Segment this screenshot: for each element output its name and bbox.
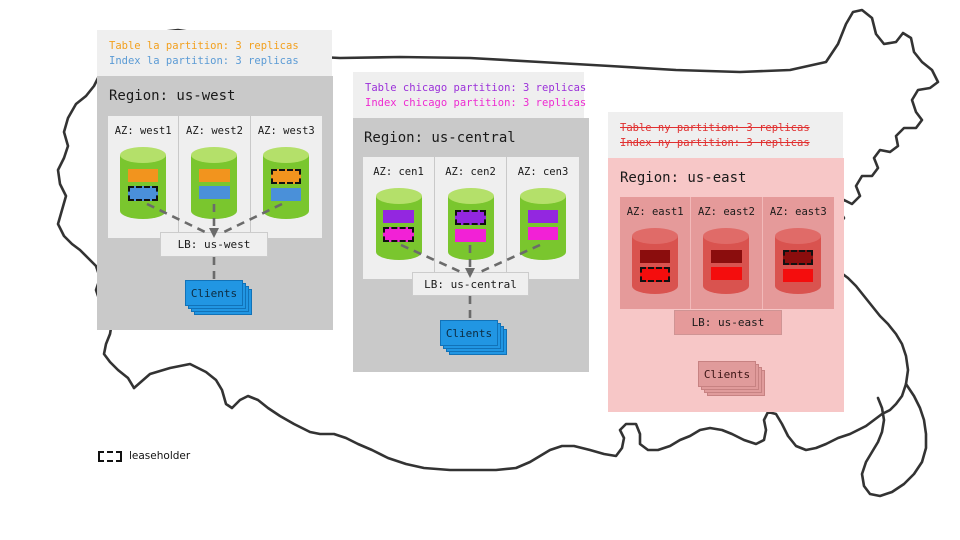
link-cen1-lb [401, 245, 461, 272]
link-cen3-lb [480, 245, 540, 272]
diagram-canvas: Table la partition: 3 replicasIndex la p… [0, 0, 960, 540]
leaseholder-legend: leaseholder [98, 450, 190, 462]
leaseholder-legend-label: leaseholder [129, 450, 190, 462]
link-west1-lb [147, 204, 205, 232]
arrow-lb-central [465, 268, 475, 278]
link-west3-lb [224, 204, 282, 232]
arrow-lb-west [209, 228, 219, 238]
dashed-box-icon [98, 451, 122, 462]
